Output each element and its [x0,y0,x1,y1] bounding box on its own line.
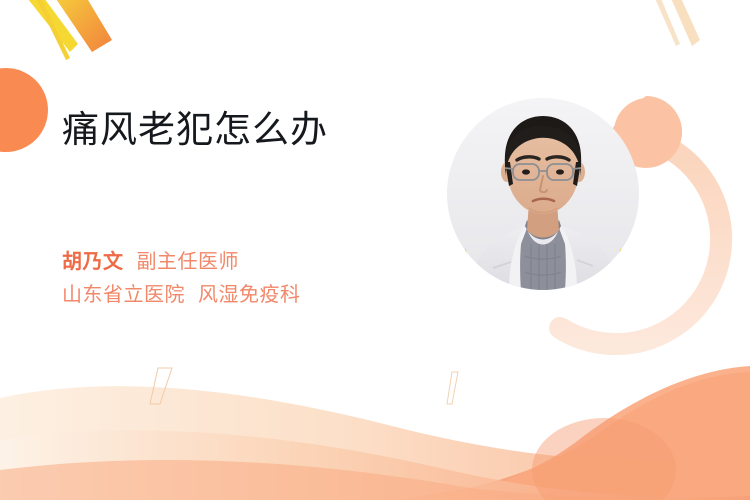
doctor-rank: 副主任医师 [137,251,240,273]
orange-circle [0,68,48,152]
doctor-hospital: 山东省立医院 [62,284,185,306]
bottom-left-hairline [150,368,172,404]
video-cover: 痛风老犯怎么办 胡乃文副主任医师 山东省立医院风湿免疫科 [0,0,750,500]
bottom-wave-right [360,366,750,500]
doctor-department: 风湿免疫科 [198,284,301,306]
credit-line-hospital-dept: 山东省立医院风湿免疫科 [62,279,482,312]
top-left-stripes [24,0,112,60]
page-title: 痛风老犯怎么办 [62,108,452,152]
top-right-stripes [654,0,700,46]
bottom-wave-lobe [532,418,676,500]
bottom-wave-back [0,386,750,500]
doctor-credits: 胡乃文副主任医师 山东省立医院风湿免疫科 [62,246,482,312]
title-block: 痛风老犯怎么办 [62,108,452,152]
credit-line-name-rank: 胡乃文副主任医师 [62,246,482,279]
bottom-mid-hairline [447,372,458,404]
doctor-name: 胡乃文 [62,251,124,273]
bottom-wave-front [0,430,750,500]
